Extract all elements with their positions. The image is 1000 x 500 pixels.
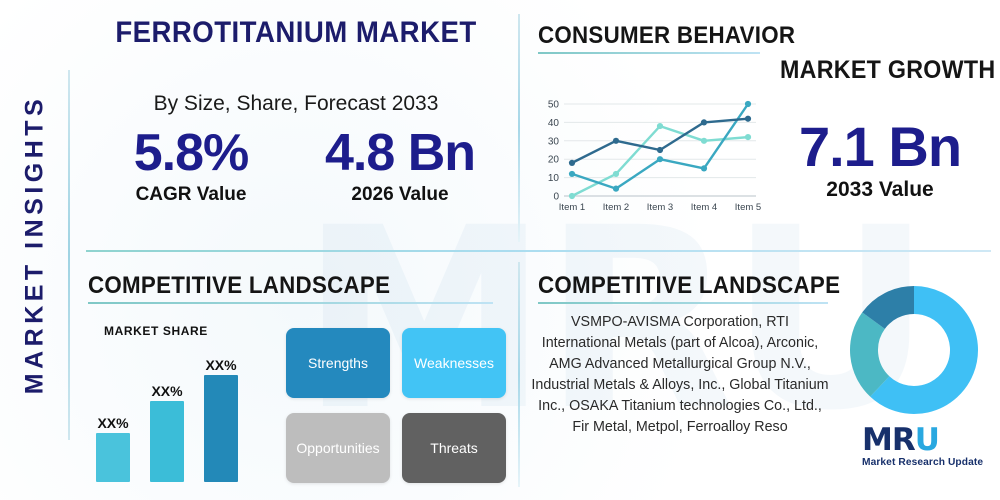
line-series xyxy=(572,104,748,189)
donut-segment xyxy=(864,321,880,387)
kpi-2026: 4.8 Bn 2026 Value xyxy=(300,124,500,206)
swot-label: Weaknesses xyxy=(414,355,494,371)
data-point xyxy=(569,193,575,199)
section-rule-competitive-landscape-left xyxy=(88,302,493,304)
data-point xyxy=(701,165,707,171)
rail-divider xyxy=(68,70,70,440)
page-subtitle: By Size, Share, Forecast 2033 xyxy=(86,92,506,116)
section-rule-competitive-landscape-right xyxy=(538,302,828,304)
vertical-divider-top xyxy=(518,14,520,242)
kpi-cagr: 5.8% CAGR Value xyxy=(96,124,286,206)
data-point xyxy=(745,101,751,107)
section-heading-competitive-landscape-left: COMPETITIVE LANDSCAPE xyxy=(88,272,390,300)
market-share-donut-chart xyxy=(846,282,982,418)
y-axis-tick-label: 40 xyxy=(548,118,560,129)
consumer-behavior-line-chart: 01020304050Item 1Item 2Item 3Item 4Item … xyxy=(534,96,762,218)
bar xyxy=(96,433,130,482)
swot-label: Opportunities xyxy=(296,440,379,456)
y-axis-tick-label: 50 xyxy=(548,100,560,111)
section-heading-competitive-landscape-right: COMPETITIVE LANDSCAPE xyxy=(538,272,840,300)
bar xyxy=(204,375,238,482)
market-insights-label: MARKET INSIGHTS xyxy=(21,45,50,445)
x-axis-tick-label: Item 4 xyxy=(691,202,717,213)
kpi-2026-value: 4.8 Bn xyxy=(300,124,500,182)
section-heading-consumer-behavior: CONSUMER BEHAVIOR xyxy=(538,22,795,50)
left-rail: MARKET INSIGHTS xyxy=(0,0,68,500)
kpi-cagr-caption: CAGR Value xyxy=(96,184,286,206)
swot-box-weaknesses[interactable]: Weaknesses xyxy=(402,328,506,398)
logo-wordmark: MRU xyxy=(862,424,990,456)
bar-value-label: XX% xyxy=(200,357,242,373)
y-axis-tick-label: 10 xyxy=(548,173,560,184)
logo-mr-text: MR xyxy=(862,422,915,458)
kpi-2033-value: 7.1 Bn xyxy=(760,118,1000,176)
y-axis-tick-label: 30 xyxy=(548,136,560,147)
kpi-2033: 7.1 Bn 2033 Value xyxy=(760,118,1000,202)
x-axis-tick-label: Item 5 xyxy=(735,202,761,213)
company-list: VSMPO-AVISMA Corporation, RTI Internatio… xyxy=(530,312,830,438)
swot-matrix: StrengthsWeaknessesOpportunitiesThreats xyxy=(286,328,506,483)
data-point xyxy=(613,171,619,177)
data-point xyxy=(657,147,663,153)
data-point xyxy=(745,134,751,140)
donut-segment xyxy=(874,300,914,321)
bar-value-label: XX% xyxy=(92,415,134,431)
data-point xyxy=(569,171,575,177)
market-share-bar-chart: XX%XX%XX% xyxy=(96,322,271,482)
section-heading-market-growth: MARKET GROWTH xyxy=(780,56,995,85)
data-point xyxy=(569,160,575,166)
logo-u-text: U xyxy=(915,422,939,458)
horizontal-divider xyxy=(86,250,991,252)
data-point xyxy=(745,116,751,122)
swot-label: Threats xyxy=(430,440,477,456)
swot-box-threats[interactable]: Threats xyxy=(402,413,506,483)
data-point xyxy=(701,119,707,125)
data-point xyxy=(613,186,619,192)
x-axis-tick-label: Item 3 xyxy=(647,202,673,213)
kpi-2026-caption: 2026 Value xyxy=(300,184,500,206)
bar-value-label: XX% xyxy=(146,383,188,399)
swot-box-opportunities[interactable]: Opportunities xyxy=(286,413,390,483)
x-axis-tick-label: Item 2 xyxy=(603,202,629,213)
page-title: FERROTITANIUM MARKET xyxy=(103,16,489,50)
y-axis-tick-label: 20 xyxy=(548,155,560,166)
kpi-cagr-value: 5.8% xyxy=(96,124,286,182)
swot-label: Strengths xyxy=(308,355,368,371)
swot-box-strengths[interactable]: Strengths xyxy=(286,328,390,398)
x-axis-tick-label: Item 1 xyxy=(559,202,585,213)
vertical-divider-bottom xyxy=(518,262,520,487)
kpi-2033-caption: 2033 Value xyxy=(760,178,1000,202)
y-axis-tick-label: 0 xyxy=(553,192,559,203)
bar xyxy=(150,401,184,482)
data-point xyxy=(613,138,619,144)
data-point xyxy=(701,138,707,144)
section-rule-consumer-behavior xyxy=(538,52,760,54)
logo-tagline: Market Research Update xyxy=(862,457,990,468)
infographic-canvas: MRU MARKET INSIGHTS FERROTITANIUM MARKET… xyxy=(0,0,1000,500)
data-point xyxy=(657,156,663,162)
data-point xyxy=(657,123,663,129)
mru-logo: MRU Market Research Update xyxy=(862,424,990,486)
